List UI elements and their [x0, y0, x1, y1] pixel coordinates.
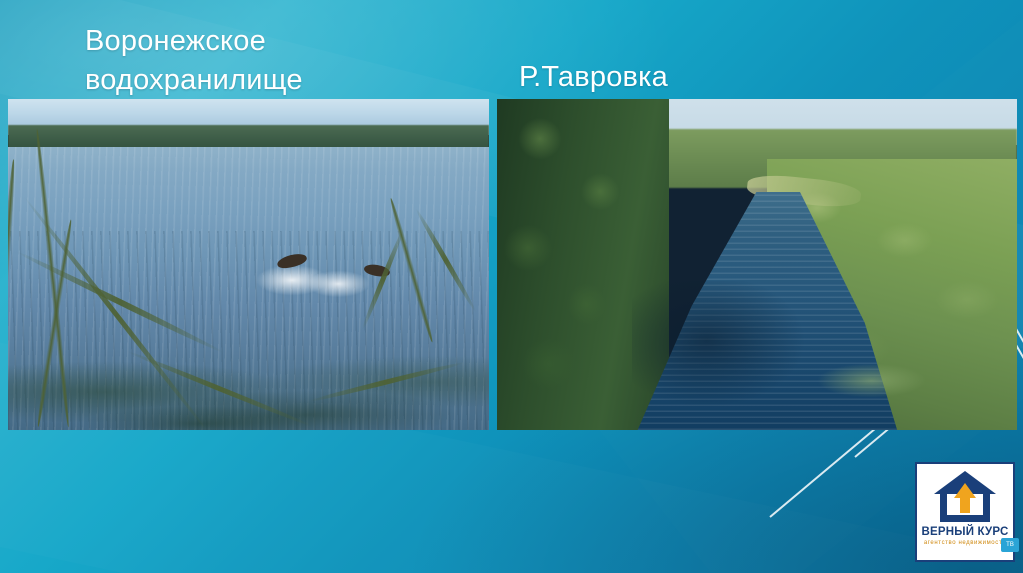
- house-icon: [928, 469, 1002, 525]
- logo-title: ВЕРНЫЙ КУРС: [921, 526, 1008, 538]
- photo-river-tavrovka: [497, 99, 1017, 430]
- photo-reservoir: [8, 99, 489, 430]
- photo-water-vegetation: [8, 304, 489, 430]
- logo-verny-kurs[interactable]: ВЕРНЫЙ КУРС агентство недвижимости ТВ: [915, 462, 1015, 562]
- decorative-diagonal-line: [769, 426, 878, 518]
- photo-water-shadow: [632, 281, 819, 430]
- photo-water-splash: [249, 251, 393, 304]
- photo-far-shore: [8, 125, 489, 148]
- title-right: Р.Тавровка: [519, 58, 939, 97]
- title-left: Воронежское водохранилище: [85, 22, 505, 99]
- photo-water-vegetation: [809, 357, 934, 403]
- logo-subtitle: агентство недвижимости: [924, 540, 1006, 546]
- logo-badge: ТВ: [1001, 538, 1019, 552]
- slide: Воронежское водохранилище Р.Тавровка: [0, 0, 1023, 573]
